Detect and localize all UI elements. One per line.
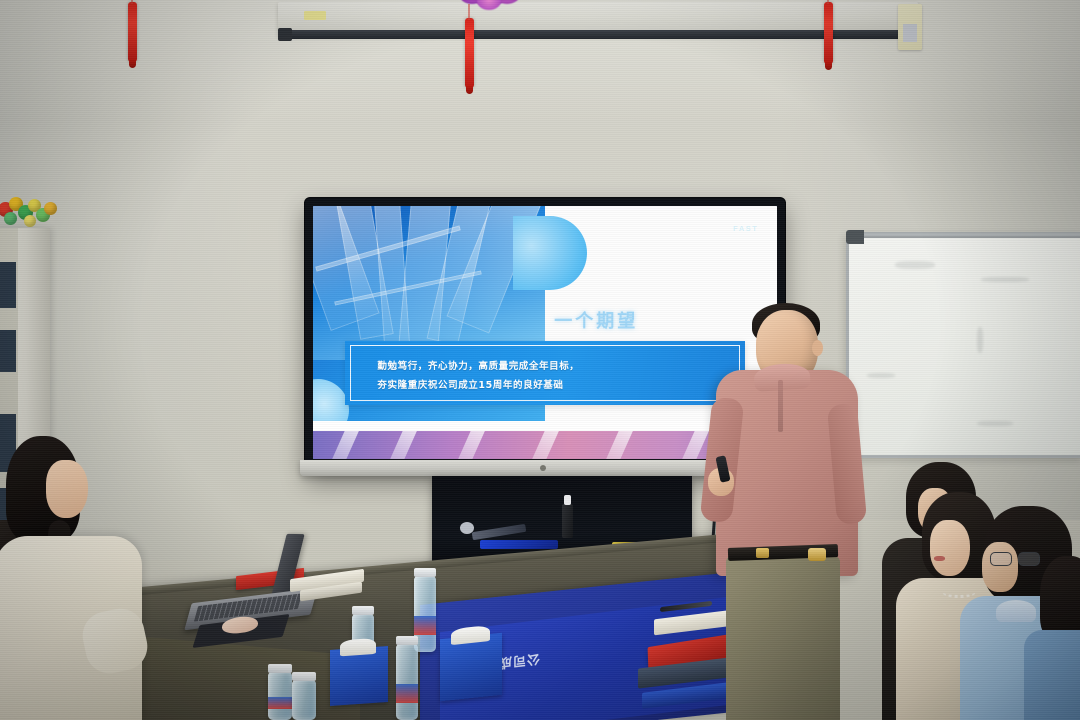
presenter-trousers (726, 556, 840, 720)
bottle-cap-icon (292, 672, 316, 681)
bottle-cap-icon (268, 664, 292, 673)
water-bottle-right[interactable] (396, 644, 418, 720)
attendee-r3-face (982, 542, 1018, 592)
whiteboard-top-rail (862, 234, 1080, 238)
bottle-label (414, 616, 436, 636)
corporate-logo: FAST (733, 224, 758, 233)
bottle-cap-icon (396, 636, 418, 645)
bottle-cap-icon (414, 568, 436, 577)
attendee-r2-lips (934, 556, 945, 561)
tissue-box-right[interactable] (440, 633, 502, 702)
display-sensor-icon (540, 465, 546, 471)
eraser-block (460, 522, 474, 534)
bottle-label (396, 684, 418, 704)
attendee-r3-collar (996, 600, 1036, 622)
red-tassel-center (465, 18, 474, 88)
slide-body-line-2: 夯实隆重庆祝公司成立15周年的良好基础 (377, 377, 563, 391)
water-bottle-front-a[interactable] (268, 672, 292, 720)
presenter-ear (812, 340, 823, 356)
presenter-belt-buckle (756, 548, 769, 558)
slide-message-band: 勤勉笃行，齐心协力，高质量完成全年目标， 夯实隆重庆祝公司成立15周年的良好基础 (345, 341, 744, 404)
cabinet-shelf-gap-1 (0, 262, 16, 308)
screen-end-cap-left (278, 28, 292, 41)
whiteboard (846, 232, 1080, 458)
tissue-box-center[interactable] (330, 646, 388, 706)
bottle-cap-icon (352, 606, 374, 615)
case-sticker (304, 11, 326, 20)
water-bottle-front-b[interactable] (292, 680, 316, 720)
attendee-r2-necklace (942, 586, 976, 598)
cleaning-spray-bottle (562, 504, 573, 538)
slide-heading: 一个期望 (554, 307, 638, 333)
decor-semicircle-top (513, 216, 587, 290)
screen-bottom-bar (282, 30, 912, 39)
presenter-wristwatch (808, 548, 826, 561)
whiteboard-corner-cap (846, 230, 864, 244)
slide-body-line-1: 勤勉笃行，齐心协力，高质量完成全年目标， (377, 358, 579, 372)
attendee-r4-body (1024, 630, 1080, 720)
meeting-room-photo: FAST 一个期望 勤勉笃行，齐心协力，高质量完成全年目标， 夯实隆重庆祝公司成… (0, 0, 1080, 720)
attendee-r2-face (930, 520, 970, 576)
red-tassel-right (824, 2, 833, 64)
tissue-sheet-icon (340, 638, 376, 657)
blue-accessory (480, 540, 558, 549)
attendee-left-face (46, 460, 88, 518)
display-screen[interactable]: FAST 一个期望 勤勉笃行，齐心协力，高质量完成全年目标， 夯实隆重庆祝公司成… (313, 206, 777, 459)
eyeglasses-icon (990, 552, 1042, 566)
cabinet-shelf-gap-2 (0, 330, 16, 372)
red-tassel-left (128, 2, 137, 62)
stylus-pen-icon (472, 524, 527, 540)
decorative-balls (0, 196, 56, 230)
presenter-shirt-placket (778, 380, 783, 432)
skyline-photo (313, 206, 545, 360)
wall-control-panel[interactable] (898, 4, 922, 50)
band-inner-border (350, 345, 739, 400)
slide-white-divider (313, 421, 777, 431)
bottle-label (268, 697, 292, 709)
